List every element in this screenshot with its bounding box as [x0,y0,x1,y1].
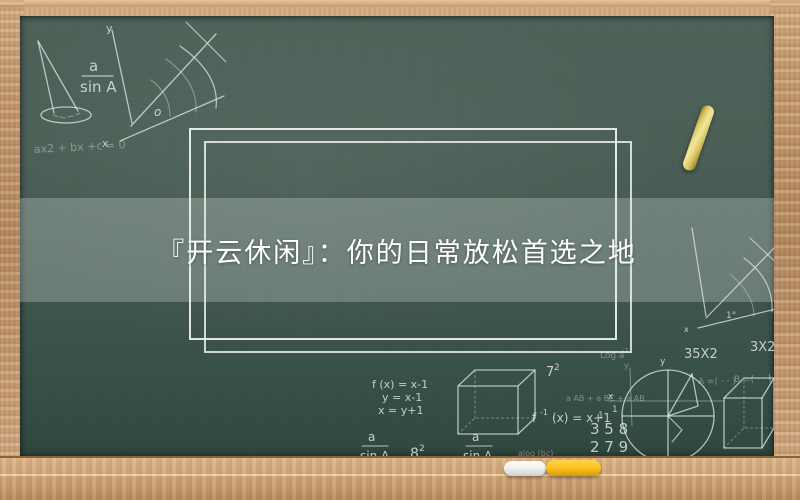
svg-text:1°: 1° [726,311,736,321]
page-title: 『开云休闲』：你的日常放松首选之地 [20,198,774,302]
frame-top-highlight [0,0,800,7]
tray-yellow-chalk-icon [546,460,601,476]
svg-text:2 7 9: 2 7 9 [590,438,628,456]
function-equations: f (x) = x-1 y = x-1 x = y+1 [372,378,428,417]
tray-lip [0,474,800,476]
cube-left-drawing [458,370,535,434]
svg-text:2: 2 [419,444,425,454]
svg-text:y: y [624,361,629,370]
svg-text:35X2: 35X2 [684,347,718,362]
svg-text:sin A: sin A [80,78,117,96]
svg-text:x: x [608,392,614,402]
svg-text:A =( · · ): A =( · · ) [698,377,736,387]
svg-text:-1: -1 [540,408,548,417]
sine-rule-formula-2: a sin A [360,430,390,458]
svg-text:a: a [89,57,98,75]
svg-text:o: o [154,105,161,119]
sine-rule-formula: a sin A [80,57,117,96]
svg-text:I =( · ): I =( · ) [768,373,774,383]
svg-text:1: 1 [612,405,618,415]
svg-text:x = y+1: x = y+1 [378,404,423,417]
svg-text:f: f [532,411,537,425]
frame-right-grain [770,0,800,500]
tray-white-chalk-icon [504,461,546,476]
svg-text:ax2 + bx +c = 0: ax2 + bx +c = 0 [33,138,125,156]
chalk-tray [0,456,800,500]
svg-text:y: y [106,22,113,35]
svg-text:f (x) = x-1: f (x) = x-1 [372,378,428,391]
chalkboard-banner: y x o a sin A ax2 + bx +c = 0 f (x) = x-… [0,0,800,500]
matrix-notation: A =( · · ) B =( · · ) I =( · ) [698,373,774,387]
svg-text:a AB + a BC + a AB: a AB + a BC + a AB [566,394,645,403]
axes-angle-drawing [112,22,226,141]
svg-text:y: y [660,357,666,367]
blackboard-surface: y x o a sin A ax2 + bx +c = 0 f (x) = x-… [20,16,774,458]
svg-text:B =( · · ): B =( · · ) [734,375,772,385]
svg-text:x: x [684,325,689,334]
cube-right-drawing [724,378,774,448]
svg-text:3X2: 3X2 [750,340,774,355]
svg-text:y = x-1: y = x-1 [382,391,422,404]
svg-text:a: a [472,430,479,444]
svg-text:2: 2 [554,363,560,373]
svg-text:a: a [368,430,375,444]
